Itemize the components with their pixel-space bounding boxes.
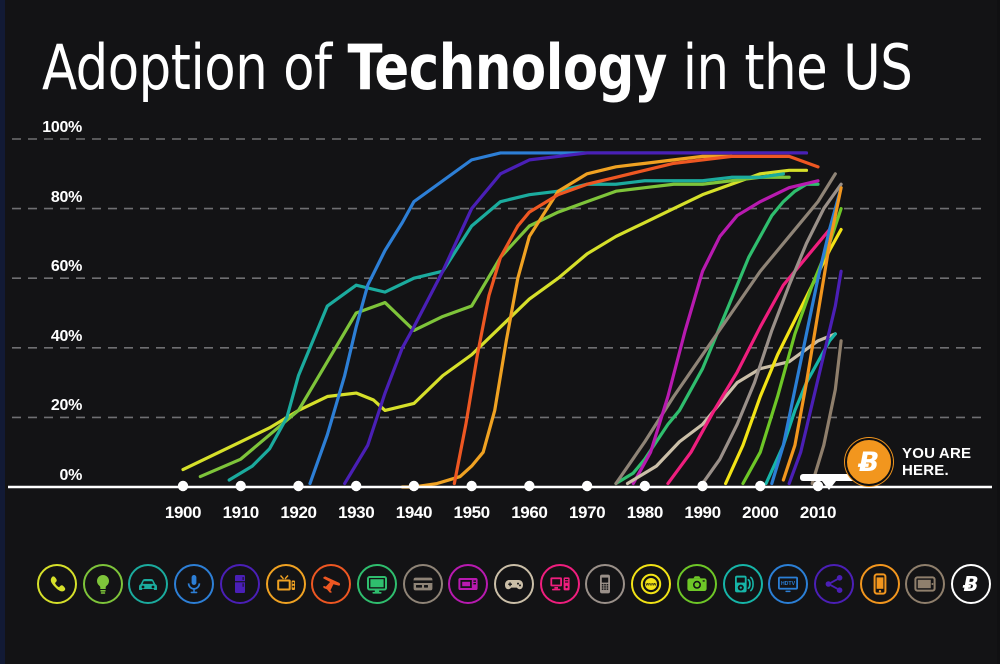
y-axis-tick-label: 100% [10, 119, 82, 137]
bitcoin-icon[interactable]: Ƀ [951, 564, 991, 604]
share-icon[interactable] [814, 564, 854, 604]
series-line-home-computer [668, 229, 830, 483]
svg-text:HDTV: HDTV [781, 581, 796, 587]
smartphone-icon-glyph [868, 572, 892, 596]
x-axis-tick-dot [293, 481, 303, 491]
airplane-icon[interactable] [311, 564, 351, 604]
desktop-pc-icon[interactable] [540, 564, 580, 604]
x-axis-tick-dot [178, 481, 188, 491]
airplane-icon-glyph [319, 572, 343, 596]
microwave-icon[interactable] [448, 564, 488, 604]
technology-icon-legend: wwwHDTVɃ [0, 556, 1000, 618]
x-axis-tick-label: 2010 [783, 503, 853, 523]
x-axis-tick-dot [755, 481, 765, 491]
series-line-videogame-console [628, 334, 836, 484]
hdtv-icon[interactable]: HDTV [768, 564, 808, 604]
telephone-icon-glyph [45, 572, 69, 596]
lightbulb-icon[interactable] [83, 564, 123, 604]
bitcoin-symbol: Ƀ [859, 447, 880, 478]
telephone-icon[interactable] [37, 564, 77, 604]
svg-text:www: www [645, 582, 657, 587]
hdtv-icon-glyph: HDTV [776, 572, 800, 596]
y-axis-tick-label: 20% [10, 397, 82, 415]
you-are-here-line2: HERE. [902, 462, 971, 479]
x-axis-tick-dot [697, 481, 707, 491]
x-axis-tick-dot [640, 481, 650, 491]
share-icon-glyph [822, 572, 846, 596]
refrigerator-icon[interactable] [220, 564, 260, 604]
camera-icon-glyph [685, 572, 709, 596]
car-icon[interactable] [128, 564, 168, 604]
you-are-here-label: YOU ARE HERE. [902, 445, 971, 479]
svg-text:Ƀ: Ƀ [962, 572, 978, 596]
microphone-icon-glyph [182, 572, 206, 596]
y-axis-tick-label: 80% [10, 189, 82, 207]
x-axis-tick-dot [466, 481, 476, 491]
x-axis-tick-dot [351, 481, 361, 491]
cellphone-icon-glyph [593, 572, 617, 596]
gamepad-icon-glyph [502, 572, 526, 596]
page-title: Adoption of Technology in the US [42, 34, 907, 104]
bitcoin-icon-glyph: Ƀ [959, 572, 983, 596]
microwave-icon-glyph [456, 572, 480, 596]
y-axis-tick-label: 60% [10, 258, 82, 276]
series-line-cellphone [703, 184, 842, 483]
monitor-icon-glyph [365, 572, 389, 596]
credit-card-icon-glyph [411, 572, 435, 596]
x-axis-tick-dot [236, 481, 246, 491]
current-year-marker-tip [822, 481, 836, 490]
you-are-here-badge: Ƀ YOU ARE HERE. [845, 438, 971, 486]
tablet-icon[interactable] [905, 564, 945, 604]
x-axis-tick-dot [409, 481, 419, 491]
tv-icon-glyph [274, 572, 298, 596]
x-axis-tick-dot [524, 481, 534, 491]
www-icon-glyph: www [639, 572, 663, 596]
refrigerator-icon-glyph [228, 572, 252, 596]
title-prefix: Adoption of [42, 31, 347, 104]
tablet-icon-glyph [913, 572, 937, 596]
mp3-icon-glyph [731, 572, 755, 596]
cellphone-icon[interactable] [585, 564, 625, 604]
microphone-icon[interactable] [174, 564, 214, 604]
x-axis-tick-dot [582, 481, 592, 491]
smartphone-icon[interactable] [860, 564, 900, 604]
title-suffix: in the US [667, 31, 912, 104]
y-axis-tick-label: 40% [10, 328, 82, 346]
infographic-root: Adoption of Technology in the US 0%20%40… [0, 0, 1000, 664]
tv-icon[interactable] [266, 564, 306, 604]
you-are-here-line1: YOU ARE [902, 445, 971, 462]
desktop-pc-icon-glyph [548, 572, 572, 596]
monitor-icon[interactable] [357, 564, 397, 604]
series-line-telephone [183, 170, 806, 469]
car-icon-glyph [136, 572, 160, 596]
y-axis-tick-label: 0% [10, 467, 82, 485]
www-icon[interactable]: www [631, 564, 671, 604]
title-bold: Technology [347, 31, 666, 104]
lightbulb-icon-glyph [91, 572, 115, 596]
credit-card-icon[interactable] [403, 564, 443, 604]
camera-icon[interactable] [677, 564, 717, 604]
gamepad-icon[interactable] [494, 564, 534, 604]
bitcoin-badge-icon: Ƀ [845, 438, 893, 486]
mp3-icon[interactable] [723, 564, 763, 604]
